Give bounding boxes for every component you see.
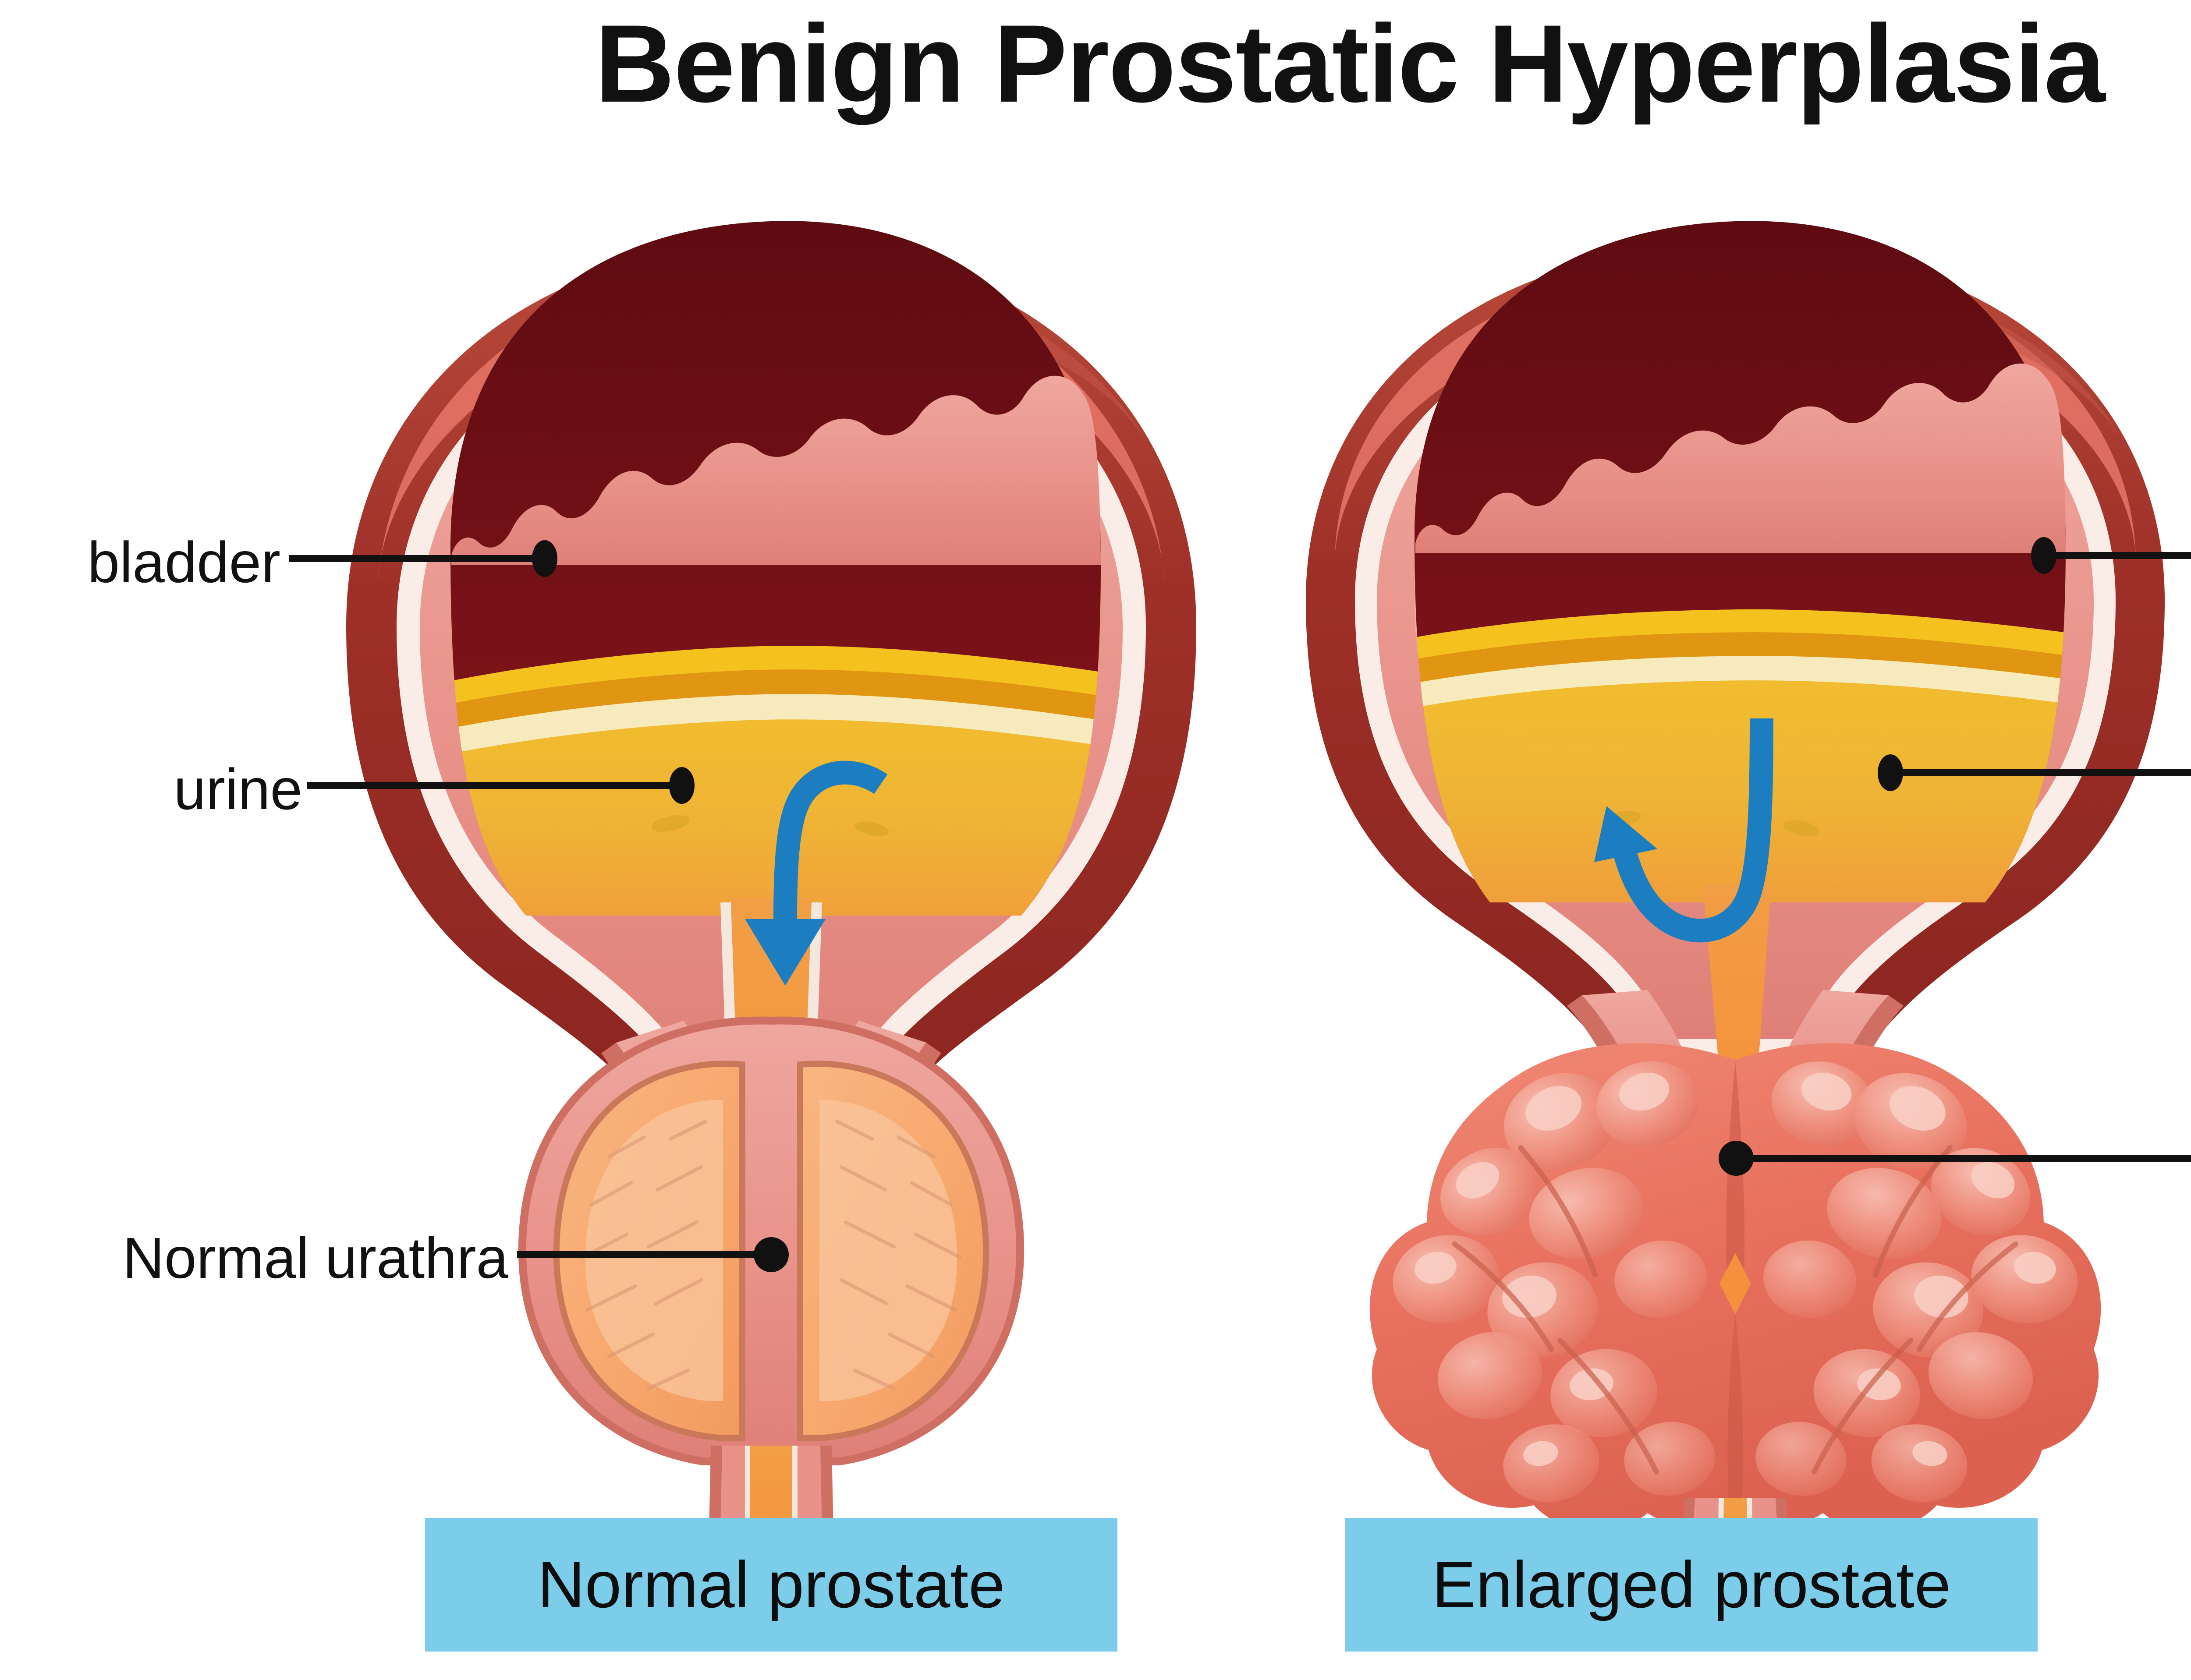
bladder-neck-outline-right-l	[1567, 995, 1665, 1161]
urine-body-right	[1402, 609, 2086, 946]
cavity-fold-edge-right	[1415, 364, 2066, 553]
bladder-separator-left	[397, 302, 1146, 1121]
urine-fleck-right-a	[1600, 808, 1642, 831]
urine-backflow-arrowhead-right	[1594, 806, 1657, 862]
normal-prostate-illustration	[346, 221, 1196, 1621]
bladder-mucosa-right	[1377, 325, 2094, 1039]
urine-surface-cream-right	[1402, 656, 2086, 710]
cavity-fold-edge-left	[451, 376, 1101, 565]
bladder-neck-right-side-right	[1766, 990, 1889, 1155]
urine-fleck-left-b	[854, 819, 890, 839]
prostate-lobe-right	[800, 1064, 986, 1438]
urethra-lumen-right	[1703, 885, 1771, 1121]
prostate-enlarged-mass	[1370, 1043, 2101, 1531]
bladder-mucosa-left	[420, 324, 1123, 1100]
anatomy-illustration	[0, 0, 2191, 1680]
bladder-outer-wall-left	[346, 245, 1196, 1148]
prostate-texture-left	[583, 1121, 960, 1389]
urine-fleck-right-b	[1782, 817, 1821, 839]
leader-dot-urine-left	[669, 767, 695, 804]
leader-dot-urethra-left	[754, 1237, 789, 1272]
urine-body-left	[438, 646, 1113, 964]
bladder-neck-outline-l	[601, 1043, 677, 1441]
bladder-neck-left-side-right	[1582, 990, 1705, 1155]
leader-lines	[289, 537, 2191, 1272]
urine-surface-cream-left	[438, 694, 1113, 756]
caption-normal-prostate-text: Normal prostate	[537, 1547, 1005, 1623]
prostate-central-cleft	[1726, 1060, 1744, 1297]
bladder-outer-wall-right	[1306, 245, 2165, 1095]
bladder-cavity-left	[450, 221, 1101, 916]
diagram-canvas: Benign Prostatic Hyperplasia	[0, 0, 2191, 1680]
page-title: Benign Prostatic Hyperplasia	[0, 9, 2191, 119]
prostate-nodules	[1386, 1052, 2085, 1510]
bladder-mucosa-texture-left	[464, 347, 1078, 797]
urethra-lumen-left-cream-r	[801, 902, 822, 1437]
urine-fleck-left-a	[650, 812, 691, 835]
leader-dot-bladder-left	[532, 540, 557, 577]
bladder-neck-left	[616, 1021, 727, 1441]
urethra-lumen-left-cream-l	[720, 902, 741, 1437]
bladder-neck-outline-r	[866, 1043, 941, 1441]
prostate-nodule-highlights	[1412, 1068, 2058, 1468]
bladder-neck-right-side-left	[815, 1021, 926, 1441]
label-urine-left: urine	[174, 753, 302, 827]
leader-dot-urethra-right	[1719, 1141, 1754, 1176]
bladder-neck-outline-right-r	[1805, 995, 1904, 1161]
caption-enlarged-prostate: Enlarged prostate	[1345, 1518, 2038, 1652]
urethra-lumen-left	[731, 898, 812, 1437]
leader-dot-bladder-right	[2031, 537, 2056, 574]
bladder-outer-gloss-right	[1832, 280, 2128, 451]
compressed-urethra-slit	[1719, 1253, 1751, 1314]
urine-surface-bright-right	[1402, 609, 2086, 664]
bladder-separator-right	[1355, 302, 2116, 1058]
prostate-lobe-inner-highlight-left	[585, 1100, 723, 1401]
caption-enlarged-prostate-text: Enlarged prostate	[1432, 1547, 1951, 1623]
prostate-capsule-outline-left	[522, 1021, 1020, 1461]
bladder-outer-highlight-left	[378, 263, 1165, 583]
urine-flow-arrow-left	[785, 773, 881, 920]
caption-normal-prostate: Normal prostate	[425, 1518, 1117, 1652]
label-normal-urethra: Normal urathra	[123, 1221, 508, 1295]
prostate-lobe-contours	[1455, 1148, 2016, 1472]
urine-surface-amber-right	[1402, 632, 2086, 687]
prostate-lobe-left	[557, 1064, 742, 1438]
leader-dot-urine-right	[1878, 754, 1903, 791]
urine-flow-arrowhead-left	[745, 919, 826, 986]
prostate-central-cleft-lower	[1727, 1314, 1743, 1520]
urine-surface-bright-left	[438, 646, 1113, 709]
label-bladder-left: bladder	[88, 526, 280, 600]
prostate-lobe-inner-highlight-right	[819, 1100, 957, 1401]
bladder-mucosa-texture-right	[1416, 347, 2054, 771]
bladder-outer-highlight-right	[1335, 262, 2136, 556]
prostate-capsule-left	[522, 1021, 1020, 1461]
bladder-cavity-right	[1415, 221, 2066, 902]
enlarged-prostate-illustration	[1306, 221, 2165, 1621]
urine-backflow-arrow-right	[1624, 718, 1762, 930]
bladder-outer-gloss-left	[863, 280, 1157, 460]
urine-surface-amber-left	[438, 669, 1113, 732]
